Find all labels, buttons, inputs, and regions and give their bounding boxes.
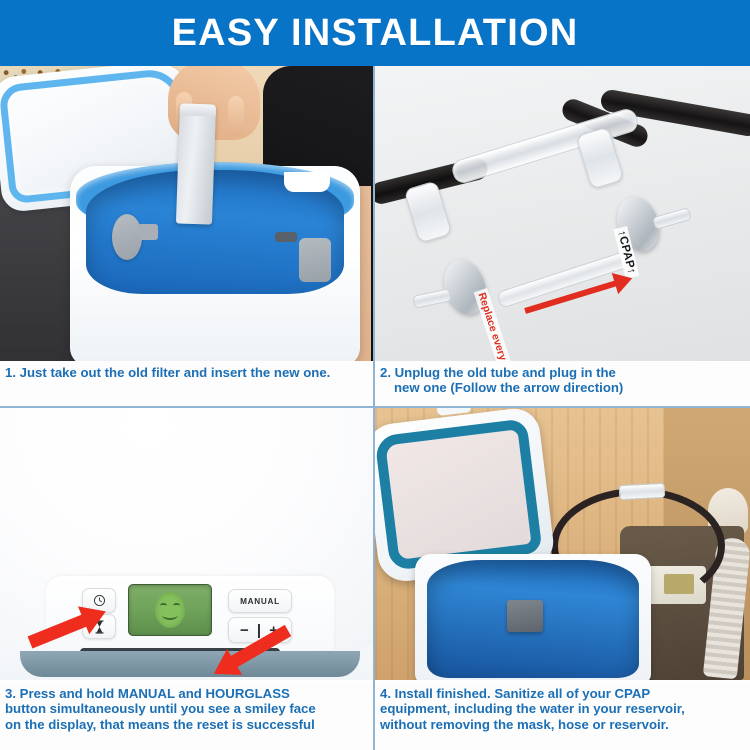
lcd-display [128, 584, 212, 636]
caption-line: 1. Just take out the old filter and inse… [5, 365, 368, 380]
caption-line: without removing the mask, hose or reser… [380, 717, 745, 732]
smiley-eye-left [160, 603, 167, 608]
step-panel-4: 4. Install finished. Sanitize all of you… [375, 408, 750, 750]
header-banner: EASY INSTALLATION [0, 0, 750, 66]
installed-filter [507, 600, 543, 632]
body-slot [275, 232, 297, 242]
smiley-eye-right [173, 603, 180, 608]
hose-connector [619, 483, 666, 500]
step-4-photo [375, 408, 750, 680]
side-grip [299, 238, 331, 282]
step-panel-3: MANUAL − | + 3. Press and hold MANUAL an… [0, 408, 375, 750]
step-3-photo: MANUAL − | + [0, 408, 373, 680]
smiley-face-icon [155, 592, 185, 628]
page-title: EASY INSTALLATION [172, 12, 579, 55]
caption-line: new one (Follow the arrow direction) [380, 380, 745, 395]
caption-line: 3. Press and hold MANUAL and HOURGLASS [5, 686, 368, 701]
manual-button-label: MANUAL [240, 597, 280, 606]
caption-line: equipment, including the water in your r… [380, 701, 745, 716]
infographic-page: EASY INSTALLATION [0, 0, 750, 750]
filter-cartridge [176, 103, 216, 224]
basin-notch [284, 172, 330, 192]
manual-button[interactable]: MANUAL [228, 589, 292, 613]
caption-line: 2. Unplug the old tube and plug in the [380, 365, 745, 380]
caption-line: button simultaneously until you see a sm… [5, 701, 368, 716]
steps-grid: 1. Just take out the old filter and inse… [0, 66, 750, 750]
step-1-photo [0, 66, 373, 361]
step-1-caption: 1. Just take out the old filter and inse… [0, 361, 373, 406]
caption-line: 4. Install finished. Sanitize all of you… [380, 686, 745, 701]
finger [228, 96, 244, 136]
step-panel-1: 1. Just take out the old filter and inse… [0, 66, 375, 408]
smiley-mouth [162, 610, 178, 620]
step-2-photo: Replace every 6 months ↑CPAP↑ [375, 66, 750, 361]
step-panel-2: Replace every 6 months ↑CPAP↑ 2. Unplug … [375, 66, 750, 408]
step-3-caption: 3. Press and hold MANUAL and HOURGLASS b… [0, 682, 373, 750]
lid-latch-arm [138, 224, 158, 240]
step-4-caption: 4. Install finished. Sanitize all of you… [375, 682, 750, 750]
filter-cap [180, 103, 216, 116]
step-2-caption: 2. Unplug the old tube and plug in the n… [375, 361, 750, 406]
device-base [20, 651, 360, 677]
caption-line: on the display, that means the reset is … [5, 717, 368, 732]
lid-gasket [375, 418, 543, 571]
